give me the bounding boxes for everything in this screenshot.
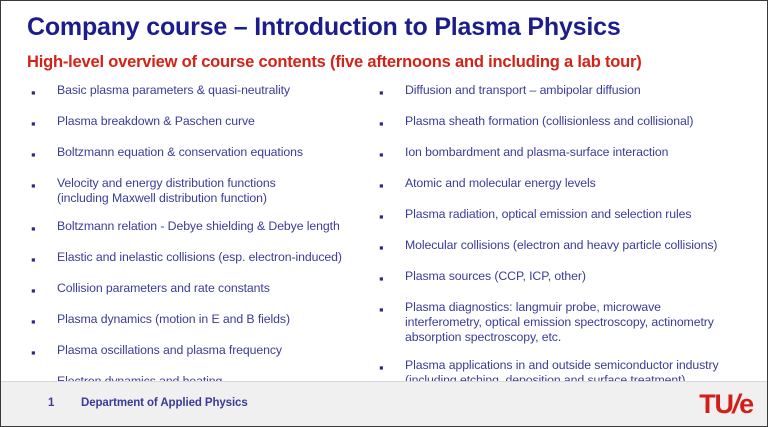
slide: Company course – Introduction to Plasma … xyxy=(0,0,768,427)
left-bullet-item: ▪Plasma breakdown & Paschen curve xyxy=(31,114,381,132)
right-bullet-item-text: Ion bombardment and plasma-surface inter… xyxy=(405,145,757,160)
left-bullet-item: ▪Plasma dynamics (motion in E and B fiel… xyxy=(31,312,381,330)
left-bullet-item: ▪Elastic and inelastic collisions (esp. … xyxy=(31,250,381,268)
right-bullet-item-line: Plasma diagnostics: langmuir probe, micr… xyxy=(405,300,757,315)
right-bullet-item-line: Plasma applications in and outside semic… xyxy=(405,358,757,373)
logo-tu: TU xyxy=(699,389,733,419)
bullet-square-icon: ▪ xyxy=(31,145,57,163)
right-bullet-item-line: Diffusion and transport – ambipolar diff… xyxy=(405,83,757,98)
left-bullet-item-text: Collision parameters and rate constants xyxy=(57,281,381,296)
right-bullet-item-text: Plasma radiation, optical emission and s… xyxy=(405,207,757,222)
right-bullet-item-text: Atomic and molecular energy levels xyxy=(405,176,757,191)
left-bullet-item-text: Boltzmann equation & conservation equati… xyxy=(57,145,381,160)
slide-subtitle: High-level overview of course contents (… xyxy=(27,53,642,72)
right-bullet-item: ▪Atomic and molecular energy levels xyxy=(379,176,757,194)
bullet-square-icon: ▪ xyxy=(379,300,405,318)
right-bullet-item-line: Atomic and molecular energy levels xyxy=(405,176,757,191)
right-bullet-item: ▪Plasma diagnostics: langmuir probe, mic… xyxy=(379,300,757,345)
right-bullet-item-text: Plasma sheath formation (collisionless a… xyxy=(405,114,757,129)
right-bullet-item-text: Molecular collisions (electron and heavy… xyxy=(405,238,757,253)
right-bullet-item-line: Ion bombardment and plasma-surface inter… xyxy=(405,145,757,160)
bullet-square-icon: ▪ xyxy=(31,219,57,237)
bullet-columns: ▪Basic plasma parameters & quasi-neutral… xyxy=(1,83,768,375)
slide-footer: 1 Department of Applied Physics TU/e xyxy=(1,381,767,426)
right-bullet-item-text: Plasma diagnostics: langmuir probe, micr… xyxy=(405,300,757,345)
left-bullet-item-line: Plasma dynamics (motion in E and B field… xyxy=(57,312,381,327)
footer-page-number: 1 xyxy=(48,397,54,409)
left-bullet-item-line: Plasma breakdown & Paschen curve xyxy=(57,114,381,129)
right-bullet-item-line: Plasma sheath formation (collisionless a… xyxy=(405,114,757,129)
right-bullet-item: ▪Ion bombardment and plasma-surface inte… xyxy=(379,145,757,163)
left-bullet-item-text: Boltzmann relation - Debye shielding & D… xyxy=(57,219,381,234)
right-bullet-item: ▪Plasma sheath formation (collisionless … xyxy=(379,114,757,132)
left-bullet-item: ▪Collision parameters and rate constants xyxy=(31,281,381,299)
right-bullet-item: ▪Plasma radiation, optical emission and … xyxy=(379,207,757,225)
bullet-square-icon: ▪ xyxy=(379,358,405,376)
left-bullet-item-text: Plasma oscillations and plasma frequency xyxy=(57,343,381,358)
left-bullet-item: ▪Velocity and energy distribution functi… xyxy=(31,176,381,206)
left-bullet-item-line: Boltzmann equation & conservation equati… xyxy=(57,145,381,160)
slide-title: Company course – Introduction to Plasma … xyxy=(27,13,621,42)
right-bullet-item: ▪Plasma sources (CCP, ICP, other) xyxy=(379,269,757,287)
left-bullet-item-text: Velocity and energy distribution functio… xyxy=(57,176,381,206)
bullet-square-icon: ▪ xyxy=(31,312,57,330)
bullet-square-icon: ▪ xyxy=(31,343,57,361)
right-bullet-item: ▪Diffusion and transport – ambipolar dif… xyxy=(379,83,757,101)
right-bullet-item: ▪Molecular collisions (electron and heav… xyxy=(379,238,757,256)
bullet-square-icon: ▪ xyxy=(379,114,405,132)
right-bullet-item-line: Plasma radiation, optical emission and s… xyxy=(405,207,757,222)
bullet-square-icon: ▪ xyxy=(379,145,405,163)
left-bullet-item: ▪Boltzmann equation & conservation equat… xyxy=(31,145,381,163)
left-bullet-item-text: Plasma breakdown & Paschen curve xyxy=(57,114,381,129)
bullet-square-icon: ▪ xyxy=(31,114,57,132)
left-bullet-item-line: Boltzmann relation - Debye shielding & D… xyxy=(57,219,381,234)
right-bullet-item-line: Molecular collisions (electron and heavy… xyxy=(405,238,757,253)
right-bullet-item-line: Plasma sources (CCP, ICP, other) xyxy=(405,269,757,284)
left-bullet-item-text: Basic plasma parameters & quasi-neutrali… xyxy=(57,83,381,98)
footer-department: Department of Applied Physics xyxy=(81,397,248,409)
bullet-square-icon: ▪ xyxy=(31,176,57,194)
right-bullet-item-line: interferometry, optical emission spectro… xyxy=(405,315,757,330)
left-bullet-item-text: Elastic and inelastic collisions (esp. e… xyxy=(57,250,381,265)
left-bullet-item-text: Plasma dynamics (motion in E and B field… xyxy=(57,312,381,327)
left-bullet-column: ▪Basic plasma parameters & quasi-neutral… xyxy=(31,83,381,405)
left-bullet-item-line: Velocity and energy distribution functio… xyxy=(57,176,381,191)
bullet-square-icon: ▪ xyxy=(31,250,57,268)
left-bullet-item: ▪Plasma oscillations and plasma frequenc… xyxy=(31,343,381,361)
left-bullet-item-line: Elastic and inelastic collisions (esp. e… xyxy=(57,250,381,265)
bullet-square-icon: ▪ xyxy=(379,269,405,287)
left-bullet-item-line: Basic plasma parameters & quasi-neutrali… xyxy=(57,83,381,98)
right-bullet-item-text: Diffusion and transport – ambipolar diff… xyxy=(405,83,757,98)
left-bullet-item-line: Collision parameters and rate constants xyxy=(57,281,381,296)
bullet-square-icon: ▪ xyxy=(31,83,57,101)
bullet-square-icon: ▪ xyxy=(31,281,57,299)
left-bullet-item-line: (including Maxwell distribution function… xyxy=(57,191,381,206)
left-bullet-item: ▪Boltzmann relation - Debye shielding & … xyxy=(31,219,381,237)
right-bullet-item-line: absorption spectroscopy, etc. xyxy=(405,330,757,345)
left-bullet-item-line: Plasma oscillations and plasma frequency xyxy=(57,343,381,358)
tue-logo: TU/e xyxy=(699,390,753,418)
bullet-square-icon: ▪ xyxy=(379,176,405,194)
bullet-square-icon: ▪ xyxy=(379,83,405,101)
right-bullet-column: ▪Diffusion and transport – ambipolar dif… xyxy=(379,83,757,401)
left-bullet-item: ▪Basic plasma parameters & quasi-neutral… xyxy=(31,83,381,101)
bullet-square-icon: ▪ xyxy=(379,207,405,225)
bullet-square-icon: ▪ xyxy=(379,238,405,256)
right-bullet-item-text: Plasma sources (CCP, ICP, other) xyxy=(405,269,757,284)
